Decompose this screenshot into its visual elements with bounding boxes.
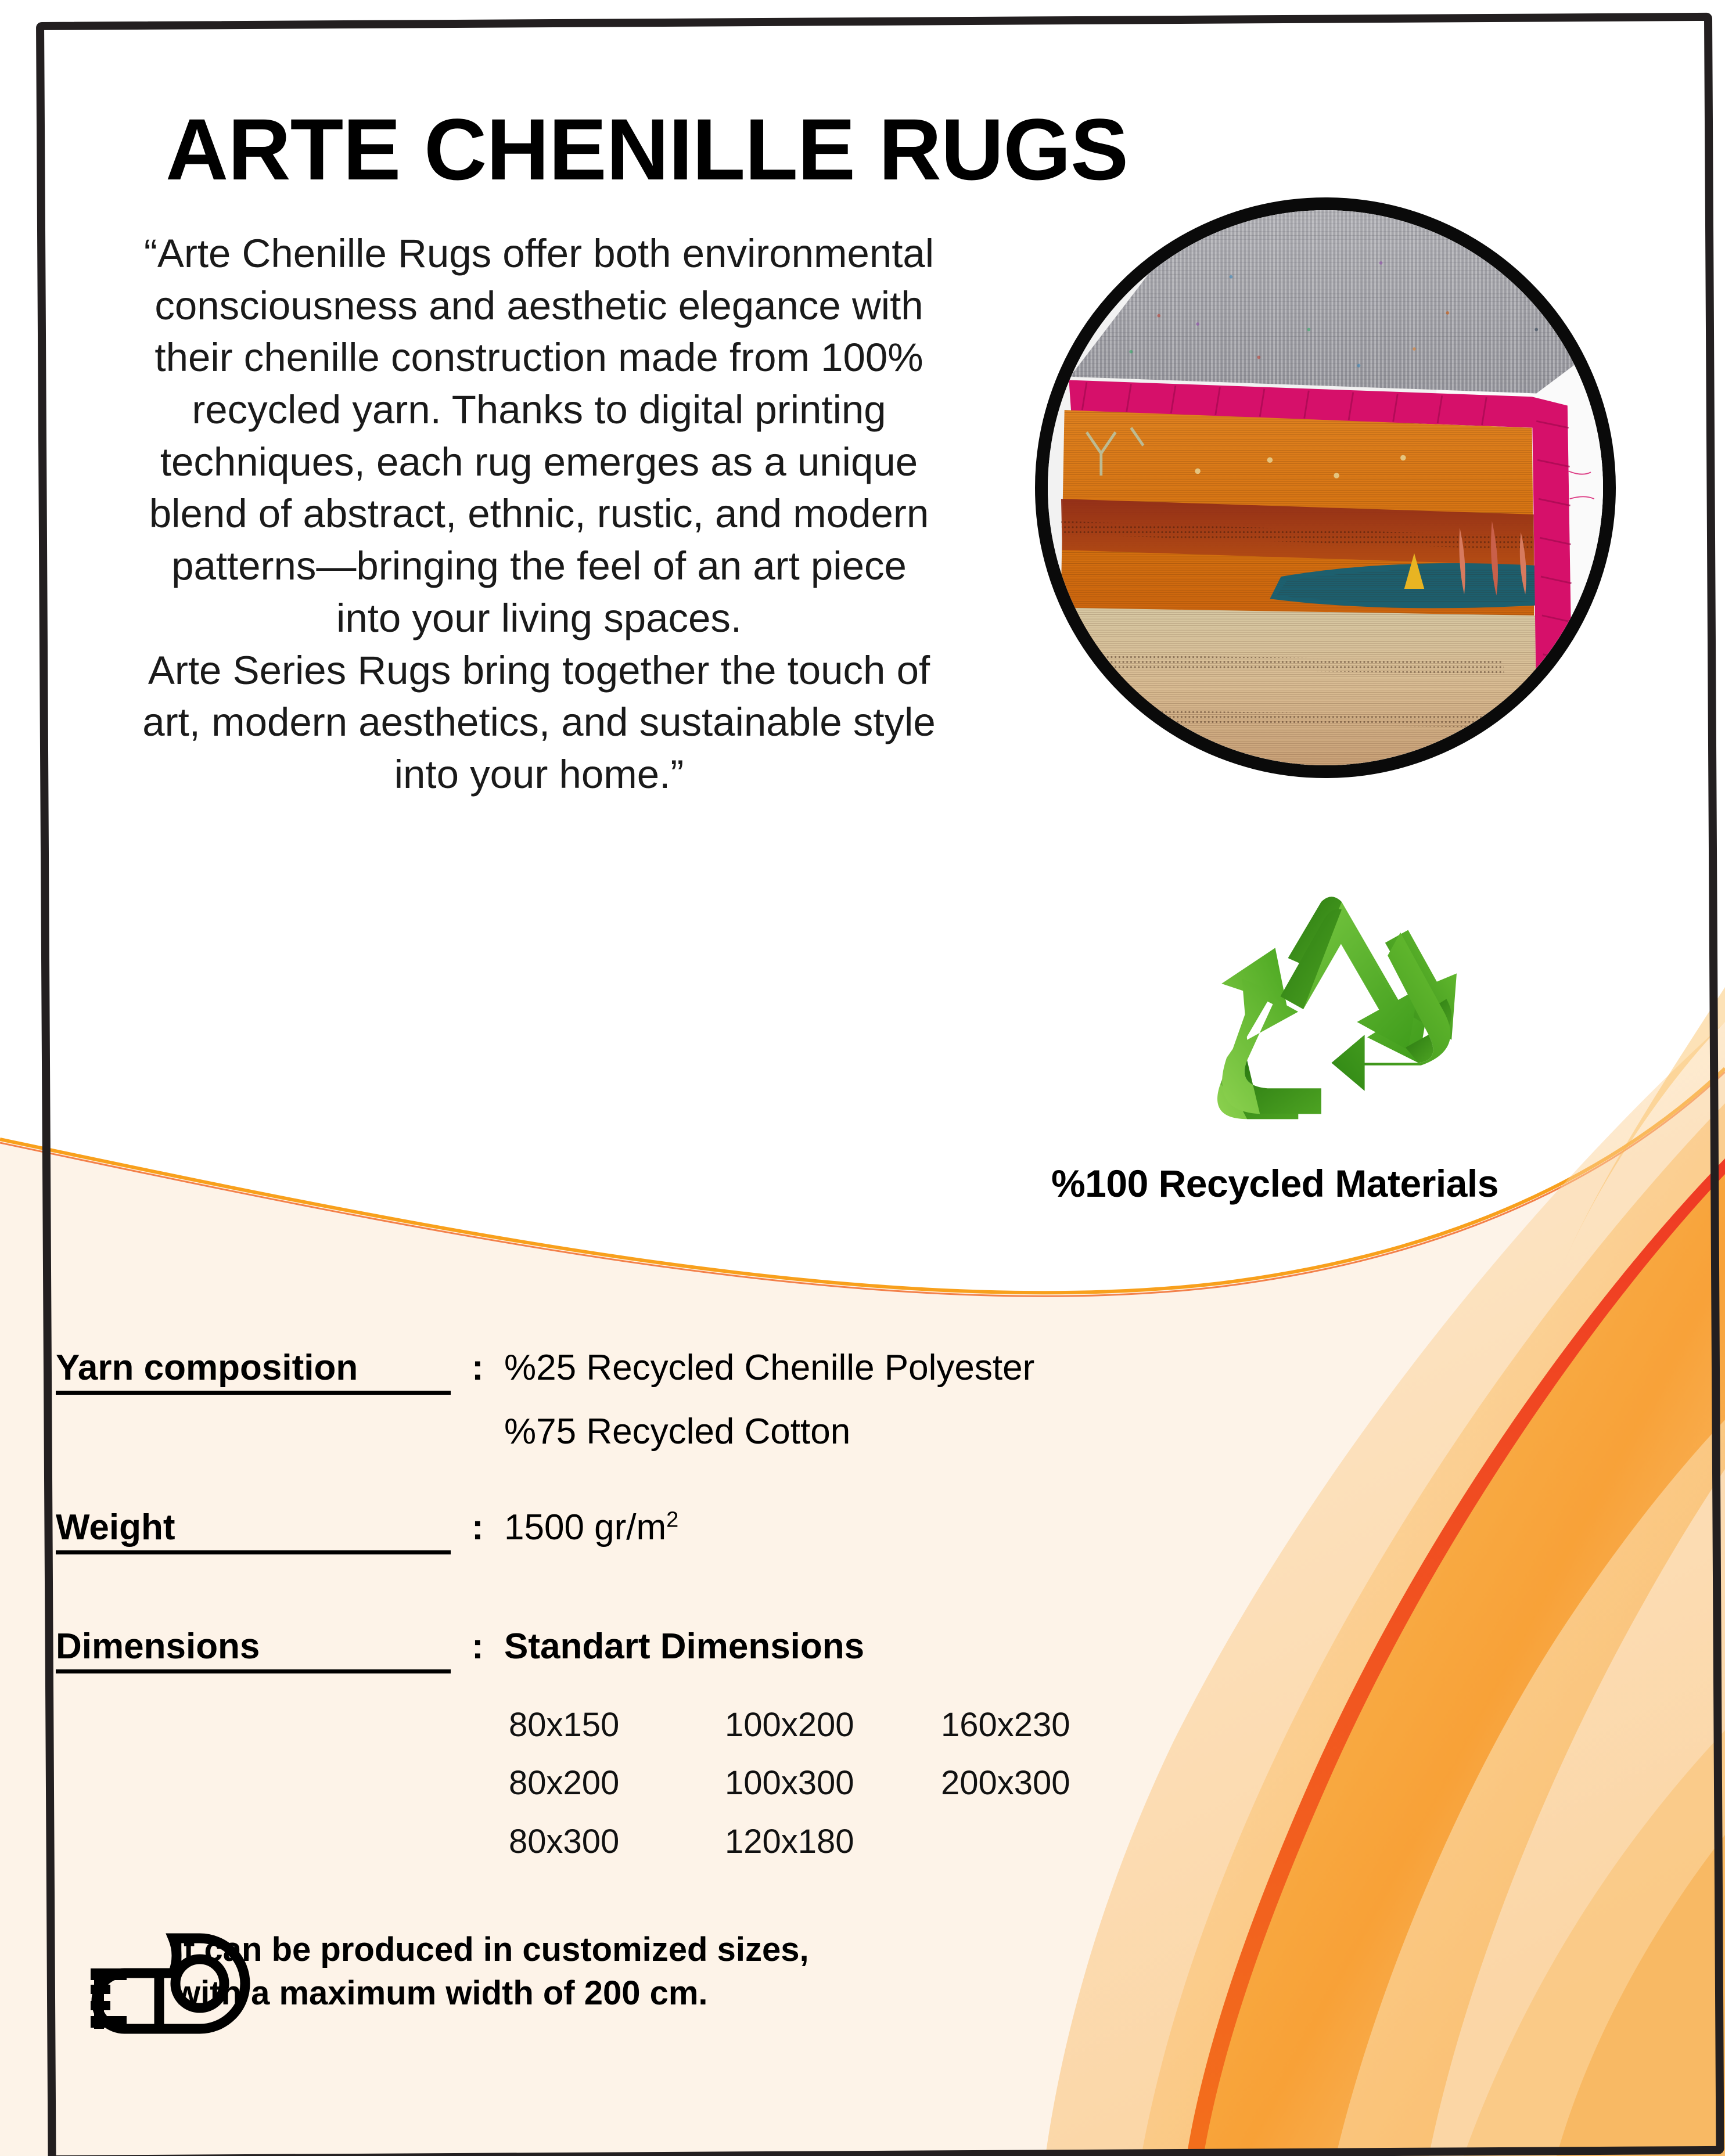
table-row: 80x300 120x180 [509, 1818, 1070, 1876]
spec-sheet-page: ARTE CHENILLE RUGS “Arte Chenille Rugs o… [0, 0, 1725, 2156]
spec-label-dimensions: Dimensions [56, 1626, 451, 1673]
recycled-materials-label: %100 Recycled Materials [1051, 1161, 1498, 1205]
quote-line: “Arte Chenille Rugs offer both environme… [45, 228, 1033, 280]
size-cell: 80x200 [509, 1759, 725, 1817]
spec-value-yarn-2: %75 Recycled Cotton [504, 1411, 850, 1452]
size-cell: 160x230 [941, 1701, 1070, 1759]
standard-dimensions-grid: 80x150 100x200 160x230 80x200 100x300 20… [509, 1701, 1070, 1876]
size-cell: 120x180 [725, 1818, 941, 1876]
weight-number: 1500 gr/m [504, 1507, 666, 1547]
spec-value-dimensions-heading: Standart Dimensions [504, 1626, 864, 1667]
spec-colon: : [472, 1626, 484, 1667]
quote-line: patterns—bringing the feel of an art pie… [45, 540, 1033, 592]
note-line-2: with a maximum width of 200 cm. [174, 1971, 809, 2015]
table-row: 80x200 100x300 200x300 [509, 1759, 1070, 1817]
product-description: “Arte Chenille Rugs offer both environme… [45, 228, 1033, 801]
spec-colon: : [472, 1507, 484, 1548]
quote-line: Arte Series Rugs bring together the touc… [45, 645, 1033, 697]
recycle-symbol-icon [1214, 894, 1469, 1150]
custom-size-note: It can be produced in customized sizes, … [174, 1928, 809, 2015]
size-cell [941, 1818, 1070, 1876]
weight-exponent: 2 [666, 1507, 678, 1532]
spec-value-weight: 1500 gr/m2 [504, 1507, 678, 1548]
quote-line: their chenille construction made from 10… [45, 332, 1033, 384]
quote-line: into your living spaces. [45, 592, 1033, 645]
spec-colon: : [472, 1347, 484, 1388]
spec-label-weight: Weight [56, 1507, 451, 1554]
product-photo [1035, 197, 1616, 778]
size-cell: 100x200 [725, 1701, 941, 1759]
quote-line: recycled yarn. Thanks to digital printin… [45, 384, 1033, 436]
spec-label-yarn-composition: Yarn composition [56, 1347, 451, 1395]
page-title: ARTE CHENILLE RUGS [166, 106, 1128, 193]
quote-line: art, modern aesthetics, and sustainable … [45, 696, 1033, 748]
spec-value-yarn-1: %25 Recycled Chenille Polyester [504, 1347, 1034, 1388]
quote-line: into your home.” [45, 748, 1033, 801]
size-cell: 200x300 [941, 1759, 1070, 1817]
note-line-1: It can be produced in customized sizes, [174, 1928, 809, 1971]
table-row: 80x150 100x200 160x230 [509, 1701, 1070, 1759]
quote-line: consciousness and aesthetic elegance wit… [45, 280, 1033, 332]
rug-corner-illustration [1048, 210, 1603, 765]
size-cell: 80x300 [509, 1818, 725, 1876]
quote-line: blend of abstract, ethnic, rustic, and m… [45, 488, 1033, 540]
size-cell: 80x150 [509, 1701, 725, 1759]
quote-line: techniques, each rug emerges as a unique [45, 436, 1033, 488]
size-cell: 100x300 [725, 1759, 941, 1817]
